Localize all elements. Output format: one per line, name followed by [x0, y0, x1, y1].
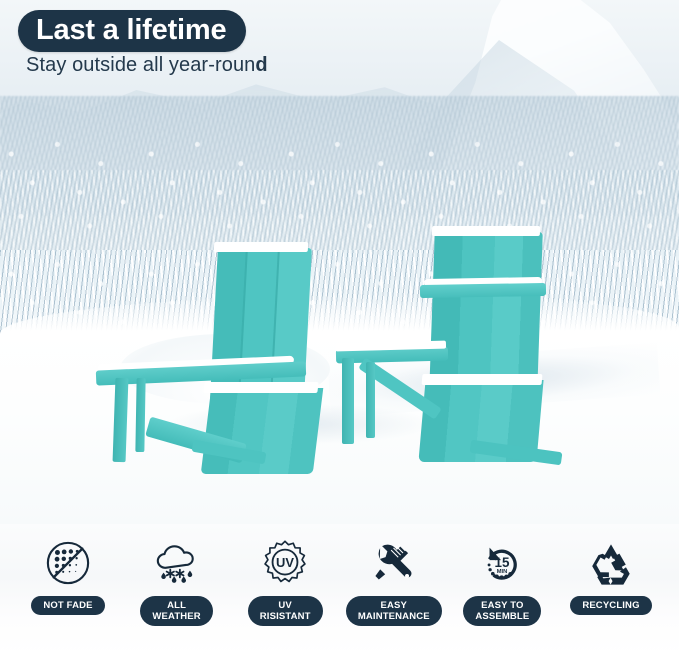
subheadline: Stay outside all year-round	[26, 54, 268, 77]
clock-15-min-icon: 15 MIN	[478, 536, 526, 590]
recycle-icon	[587, 536, 635, 590]
svg-text:UV: UV	[276, 555, 294, 570]
no-fade-icon	[45, 536, 91, 590]
subheadline-tail: d	[255, 54, 267, 76]
feature-icon-strip: NOT FADE ALL	[0, 524, 679, 656]
chair-right-seat-snow	[422, 374, 543, 385]
chair-right-back-leg	[366, 362, 375, 438]
chair-right-front-leg	[342, 358, 354, 444]
chair-right-backrest	[429, 232, 543, 392]
headline-text: Last a lifetime	[36, 15, 226, 45]
feature-easy-to-assemble[interactable]: 15 MIN EASY TO ASSEMBLE	[448, 536, 556, 626]
feature-label: ALL WEATHER	[140, 596, 212, 626]
feature-not-fade[interactable]: NOT FADE	[14, 536, 122, 615]
uv-badge-icon: UV	[261, 536, 309, 590]
wrench-screwdriver-icon	[369, 536, 419, 590]
subheadline-text: Stay outside all year-roun	[26, 54, 255, 76]
lifestyle-photo	[0, 0, 679, 524]
feature-label: EASY TO ASSEMBLE	[463, 596, 541, 626]
feature-label: NOT FADE	[31, 596, 104, 615]
feature-label: UV RISISTANT	[248, 596, 323, 626]
chair-left-seat-snow	[203, 382, 318, 393]
product-feature-image: Last a lifetime Stay outside all year-ro…	[0, 0, 679, 656]
feature-easy-maintenance[interactable]: EASY MAINTENANCE	[340, 536, 448, 626]
chair-left-back-leg	[135, 378, 145, 452]
adirondack-chair-left	[96, 248, 346, 478]
chair-left-front-leg	[113, 378, 129, 462]
adirondack-chair-right	[336, 232, 586, 478]
chair-left-back-snow	[214, 242, 309, 252]
cloud-snow-rain-icon	[152, 536, 202, 590]
feature-label: EASY MAINTENANCE	[346, 596, 442, 626]
chair-right-armrest	[420, 283, 546, 298]
chair-right-back-snow	[432, 226, 540, 236]
headline-pill: Last a lifetime	[18, 10, 246, 52]
assemble-minutes-unit: MIN	[497, 569, 508, 575]
feature-uv-resistant[interactable]: UV UV RISISTANT	[231, 536, 339, 626]
feature-label: RECYCLING	[570, 596, 651, 615]
feature-recycling[interactable]: RECYCLING	[557, 536, 665, 615]
assemble-minutes-value: 15	[495, 555, 510, 570]
feature-all-weather[interactable]: ALL WEATHER	[123, 536, 231, 626]
